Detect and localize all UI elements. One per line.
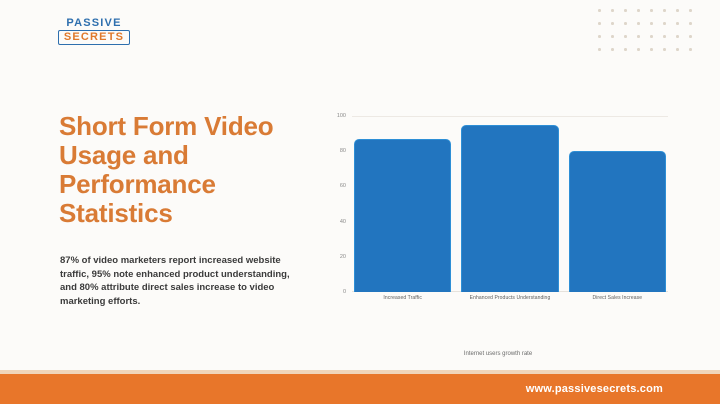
footer-website-url[interactable]: www.passivesecrets.com	[526, 383, 663, 395]
grid-dot	[598, 48, 601, 51]
bar-chart: 100 80 60 40 20 0 Increased	[328, 116, 668, 301]
grid-dot	[676, 22, 679, 25]
y-tick-label: 100	[337, 113, 346, 119]
chart-bars	[352, 116, 668, 292]
x-label-direct-sales-increase: Direct Sales Increase	[569, 295, 666, 301]
bar-direct-sales-increase[interactable]	[569, 151, 666, 292]
logo-text-passive: PASSIVE	[58, 17, 130, 29]
grid-dot	[663, 35, 666, 38]
grid-dot	[611, 35, 614, 38]
grid-dot	[598, 9, 601, 12]
grid-dot	[663, 48, 666, 51]
brand-logo: PASSIVE SECRETS	[58, 17, 130, 45]
logo-text-secrets: SECRETS	[61, 31, 127, 44]
grid-dot	[637, 22, 640, 25]
grid-dot	[637, 9, 640, 12]
grid-dot	[650, 35, 653, 38]
grid-dot	[598, 22, 601, 25]
grid-dot	[689, 35, 692, 38]
grid-dot	[624, 22, 627, 25]
grid-dot	[611, 22, 614, 25]
grid-dot	[689, 48, 692, 51]
y-tick-label: 20	[340, 254, 346, 260]
slide-canvas: PASSIVE SECRETS Short Form Video Usage a…	[0, 0, 720, 404]
x-label-enhanced-products-understanding: Enhanced Products Understanding	[461, 295, 558, 301]
grid-dot	[650, 22, 653, 25]
chart-legend-caption: Internet users growth rate	[328, 351, 668, 357]
grid-dot	[676, 9, 679, 12]
grid-dot	[663, 22, 666, 25]
grid-dot	[663, 9, 666, 12]
grid-dot	[611, 48, 614, 51]
bar-slot	[461, 116, 558, 292]
grid-dot	[689, 22, 692, 25]
grid-dot	[611, 9, 614, 12]
grid-dot	[689, 9, 692, 12]
y-tick-label: 0	[343, 289, 346, 295]
grid-dot	[624, 9, 627, 12]
grid-dot	[676, 35, 679, 38]
bar-increased-traffic[interactable]	[354, 139, 451, 292]
y-tick-label: 60	[340, 183, 346, 189]
dot-grid-decoration	[598, 9, 702, 61]
logo-box: SECRETS	[58, 30, 130, 45]
chart-y-axis: 100 80 60 40 20 0	[328, 116, 350, 292]
y-tick-label: 80	[340, 148, 346, 154]
bar-slot	[354, 116, 451, 292]
chart-plot-area	[352, 116, 668, 292]
chart-x-labels: Increased Traffic Enhanced Products Unde…	[352, 295, 668, 301]
bar-slot	[569, 116, 666, 292]
x-label-increased-traffic: Increased Traffic	[354, 295, 451, 301]
footer-bar: www.passivesecrets.com	[0, 374, 720, 404]
y-tick-label: 40	[340, 219, 346, 225]
body-paragraph: 87% of video marketers report increased …	[60, 254, 300, 308]
page-title: Short Form Video Usage and Performance S…	[59, 112, 319, 228]
grid-dot	[637, 35, 640, 38]
bar-enhanced-products-understanding[interactable]	[461, 125, 558, 292]
grid-dot	[624, 48, 627, 51]
grid-dot	[637, 48, 640, 51]
grid-dot	[598, 35, 601, 38]
grid-dot	[650, 48, 653, 51]
grid-dot	[624, 35, 627, 38]
grid-dot	[676, 48, 679, 51]
grid-dot	[650, 9, 653, 12]
